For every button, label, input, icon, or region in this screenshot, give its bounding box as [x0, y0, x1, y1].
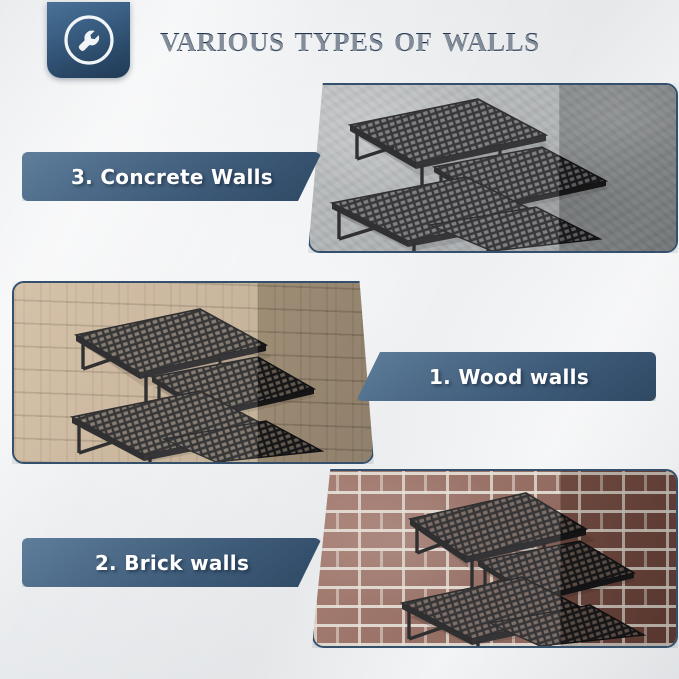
- panel-shade-overlay: [14, 283, 372, 462]
- label-concrete-walls: 3. Concrete Walls: [22, 165, 322, 189]
- label-brick-walls: 2. Brick walls: [22, 551, 322, 575]
- label-banner-concrete[interactable]: 3. Concrete Walls: [22, 152, 322, 201]
- wrench-in-circle-icon: [63, 14, 115, 66]
- label-wood-walls: 1. Wood walls: [356, 365, 656, 389]
- image-panel-concrete: [308, 83, 678, 253]
- panel-shade-overlay: [310, 85, 676, 251]
- panel-shade-overlay: [314, 471, 676, 646]
- logo-badge: [47, 2, 130, 78]
- image-panel-brick: [312, 469, 678, 648]
- header: Various Types of Walls: [0, 0, 679, 84]
- page-title: Various Types of Walls: [160, 17, 660, 67]
- label-banner-brick[interactable]: 2. Brick walls: [22, 538, 322, 587]
- image-panel-wood: [12, 281, 374, 464]
- infographic-canvas: Various Types of Walls: [0, 0, 679, 679]
- label-banner-wood[interactable]: 1. Wood walls: [356, 352, 656, 401]
